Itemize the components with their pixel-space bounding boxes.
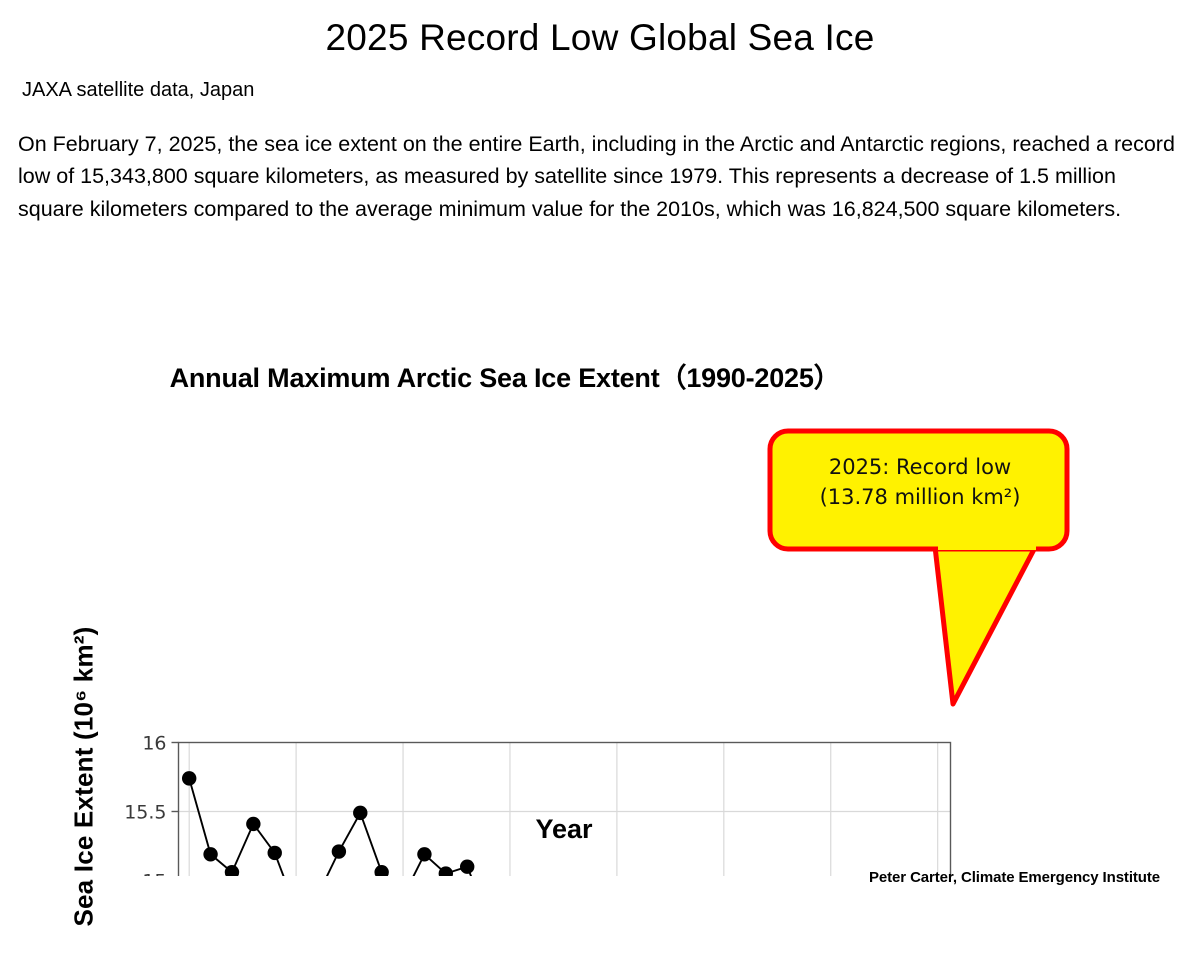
y-tick-labels: 13.51414.51515.516: [124, 733, 166, 877]
callout-text-line-2: (13.78 million km²): [776, 482, 1064, 512]
data-point: [225, 865, 239, 876]
plot-frame: [179, 743, 951, 877]
callout-text-line-1: 2025: Record low: [776, 452, 1064, 482]
y-tick-label: 15: [142, 871, 166, 877]
y-tick-marks: [172, 743, 179, 877]
data-point: [460, 860, 474, 874]
x-axis-title: Year: [178, 814, 950, 845]
y-tick-label: 16: [142, 733, 166, 755]
line-chart-plot: 13.51414.51515.516 199019952000200520102…: [0, 346, 1200, 876]
data-point: [332, 844, 346, 858]
data-point: [203, 847, 217, 861]
data-point: [374, 865, 388, 876]
page-title: 2025 Record Low Global Sea Ice: [0, 18, 1200, 59]
body-paragraph: On February 7, 2025, the sea ice extent …: [18, 128, 1182, 226]
data-point: [417, 847, 431, 861]
chart-container: Annual Maximum Arctic Sea Ice Extent（199…: [0, 346, 1200, 876]
footer-credit: Peter Carter, Climate Emergency Institut…: [869, 869, 1160, 886]
callout-text: 2025: Record low (13.78 million km²): [776, 452, 1064, 513]
data-source-label: JAXA satellite data, Japan: [22, 79, 1200, 102]
data-point: [268, 846, 282, 860]
gridlines: [179, 743, 951, 877]
y-tick-label: 15.5: [124, 802, 166, 824]
data-point: [182, 771, 196, 785]
